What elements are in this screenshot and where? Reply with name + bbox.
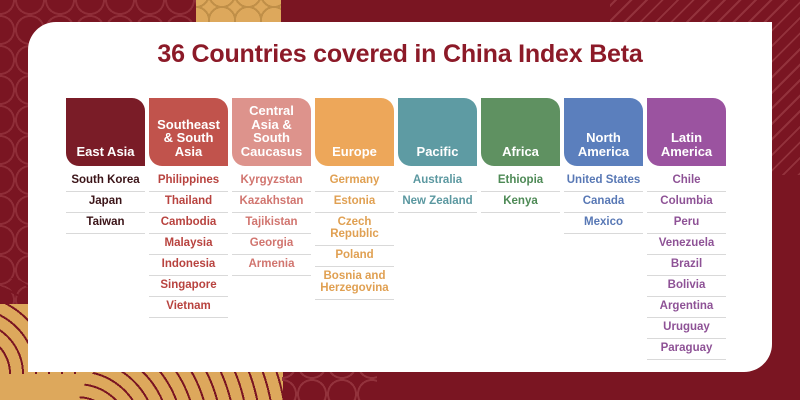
- country-list-africa: EthiopiaKenya: [481, 171, 560, 213]
- country-item: Germany: [315, 171, 394, 192]
- region-column-east-asia: East AsiaSouth KoreaJapanTaiwan: [66, 98, 145, 234]
- content-card: 36 Countries covered in China Index Beta…: [28, 22, 772, 372]
- region-column-southeast-south-asia: Southeast & South AsiaPhilippinesThailan…: [149, 98, 228, 318]
- region-header-pacific[interactable]: Pacific: [398, 98, 477, 166]
- country-item: Kyrgyzstan: [232, 171, 311, 192]
- country-item: Uruguay: [647, 318, 726, 339]
- country-item: United States: [564, 171, 643, 192]
- country-item: Armenia: [232, 255, 311, 276]
- country-item: Japan: [66, 192, 145, 213]
- country-item: Estonia: [315, 192, 394, 213]
- country-item: Chile: [647, 171, 726, 192]
- region-column-europe: EuropeGermanyEstoniaCzech RepublicPoland…: [315, 98, 394, 300]
- country-item: Canada: [564, 192, 643, 213]
- infographic-canvas: 36 Countries covered in China Index Beta…: [0, 0, 800, 400]
- page-title: 36 Countries covered in China Index Beta: [28, 40, 772, 69]
- country-item: Australia: [398, 171, 477, 192]
- country-item: New Zealand: [398, 192, 477, 213]
- country-item: Bosnia and Herzegovina: [315, 267, 394, 300]
- region-column-central-asia-south-caucasus: Central Asia & South CaucasusKyrgyzstanK…: [232, 98, 311, 276]
- country-item: Malaysia: [149, 234, 228, 255]
- country-item: Philippines: [149, 171, 228, 192]
- country-item: Mexico: [564, 213, 643, 234]
- region-column-north-america: North AmericaUnited StatesCanadaMexico: [564, 98, 643, 234]
- country-item: Poland: [315, 246, 394, 267]
- country-item: Thailand: [149, 192, 228, 213]
- country-item: Venezuela: [647, 234, 726, 255]
- country-item: Singapore: [149, 276, 228, 297]
- region-header-north-america[interactable]: North America: [564, 98, 643, 166]
- country-item: Kazakhstan: [232, 192, 311, 213]
- country-list-east-asia: South KoreaJapanTaiwan: [66, 171, 145, 234]
- country-list-latin-america: ChileColumbiaPeruVenezuelaBrazilBoliviaA…: [647, 171, 726, 360]
- country-item: Taiwan: [66, 213, 145, 234]
- country-list-pacific: AustraliaNew Zealand: [398, 171, 477, 213]
- country-item: Tajikistan: [232, 213, 311, 234]
- country-item: Kenya: [481, 192, 560, 213]
- country-item: Indonesia: [149, 255, 228, 276]
- country-item: Georgia: [232, 234, 311, 255]
- region-header-africa[interactable]: Africa: [481, 98, 560, 166]
- region-header-latin-america[interactable]: Latin America: [647, 98, 726, 166]
- regions-table: East AsiaSouth KoreaJapanTaiwanSoutheast…: [66, 98, 734, 360]
- region-header-southeast-south-asia[interactable]: Southeast & South Asia: [149, 98, 228, 166]
- country-item: Ethiopia: [481, 171, 560, 192]
- region-column-africa: AfricaEthiopiaKenya: [481, 98, 560, 213]
- country-item: Peru: [647, 213, 726, 234]
- country-list-europe: GermanyEstoniaCzech RepublicPolandBosnia…: [315, 171, 394, 300]
- region-column-pacific: PacificAustraliaNew Zealand: [398, 98, 477, 213]
- country-item: Paraguay: [647, 339, 726, 360]
- country-list-southeast-south-asia: PhilippinesThailandCambodiaMalaysiaIndon…: [149, 171, 228, 318]
- region-column-latin-america: Latin AmericaChileColumbiaPeruVenezuelaB…: [647, 98, 726, 360]
- country-list-central-asia-south-caucasus: KyrgyzstanKazakhstanTajikistanGeorgiaArm…: [232, 171, 311, 276]
- country-item: Vietnam: [149, 297, 228, 318]
- region-header-central-asia-south-caucasus[interactable]: Central Asia & South Caucasus: [232, 98, 311, 166]
- country-item: Columbia: [647, 192, 726, 213]
- country-item: Brazil: [647, 255, 726, 276]
- country-item: Czech Republic: [315, 213, 394, 246]
- region-header-east-asia[interactable]: East Asia: [66, 98, 145, 166]
- country-item: Argentina: [647, 297, 726, 318]
- region-header-europe[interactable]: Europe: [315, 98, 394, 166]
- country-item: South Korea: [66, 171, 145, 192]
- country-list-north-america: United StatesCanadaMexico: [564, 171, 643, 234]
- country-item: Bolivia: [647, 276, 726, 297]
- country-item: Cambodia: [149, 213, 228, 234]
